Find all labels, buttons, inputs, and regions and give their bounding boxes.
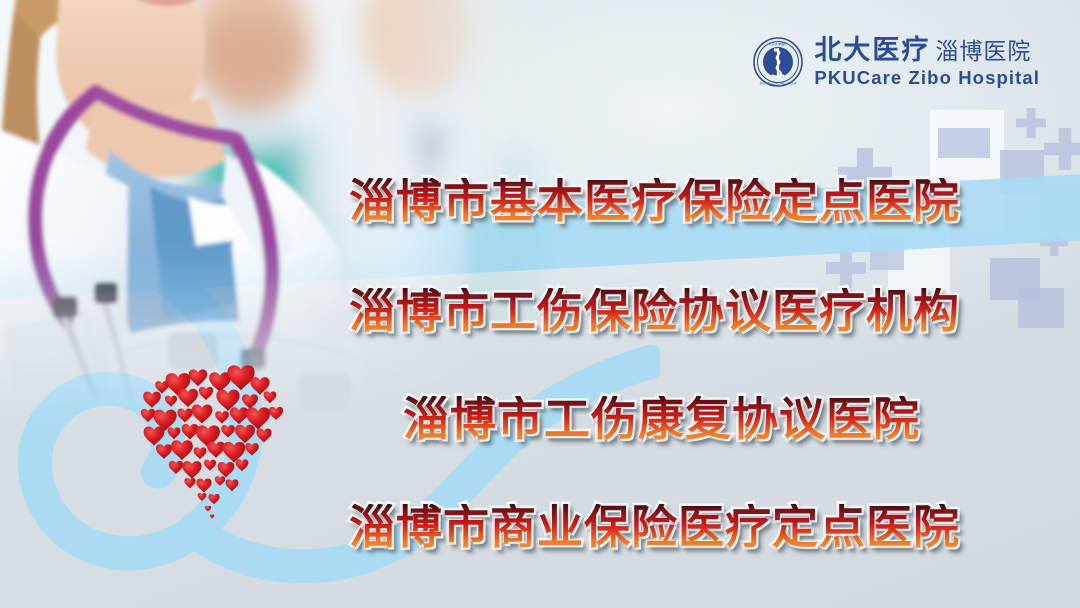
logo-brand-cn: 北大医疗 (814, 35, 930, 66)
deco-cross-2 (1016, 108, 1046, 138)
svg-text:北京大学医疗: 北京大学医疗 (769, 41, 788, 46)
logo-text-block: 北大医疗淄博医院 PKUCare Zibo Hospital (814, 37, 1040, 88)
logo-chinese-name: 北大医疗淄博医院 (814, 37, 1031, 64)
hospital-banner: 北京大学医疗 PKU HEALTHCARE GROUP 北大医疗淄博医院 PKU… (0, 0, 1080, 608)
deco-square-5 (1018, 288, 1064, 328)
slogan-line-2-text: 淄博市工伤保险协议医疗机构 (349, 288, 960, 334)
svg-text:PKU HEALTHCARE GROUP: PKU HEALTHCARE GROUP (760, 82, 797, 86)
slogan-line-4-text: 淄博市商业保险医疗定点医院 (349, 504, 960, 550)
slogan-line-1-text: 淄博市基本医疗保险定点医院 (349, 178, 960, 224)
deco-cross-3 (1044, 128, 1080, 170)
slogan-list: 淄博市基本医疗保险定点医院 淄博市基本医疗保险定点医院 淄博市工伤保险协议医疗机… (300, 160, 960, 580)
heart-of-hearts-graphic (140, 360, 310, 520)
logo-hospital-cn: 淄博医院 (935, 39, 1031, 65)
asclepius-rod-emblem-icon: 北京大学医疗 PKU HEALTHCARE GROUP (752, 36, 804, 88)
slogan-line-3-text: 淄博市工伤康复协议医院 (403, 396, 920, 442)
logo-english-name: PKUCare Zibo Hospital (814, 69, 1040, 88)
deco-square-1 (938, 128, 990, 158)
hospital-logo[interactable]: 北京大学医疗 PKU HEALTHCARE GROUP 北大医疗淄博医院 PKU… (752, 36, 1040, 88)
